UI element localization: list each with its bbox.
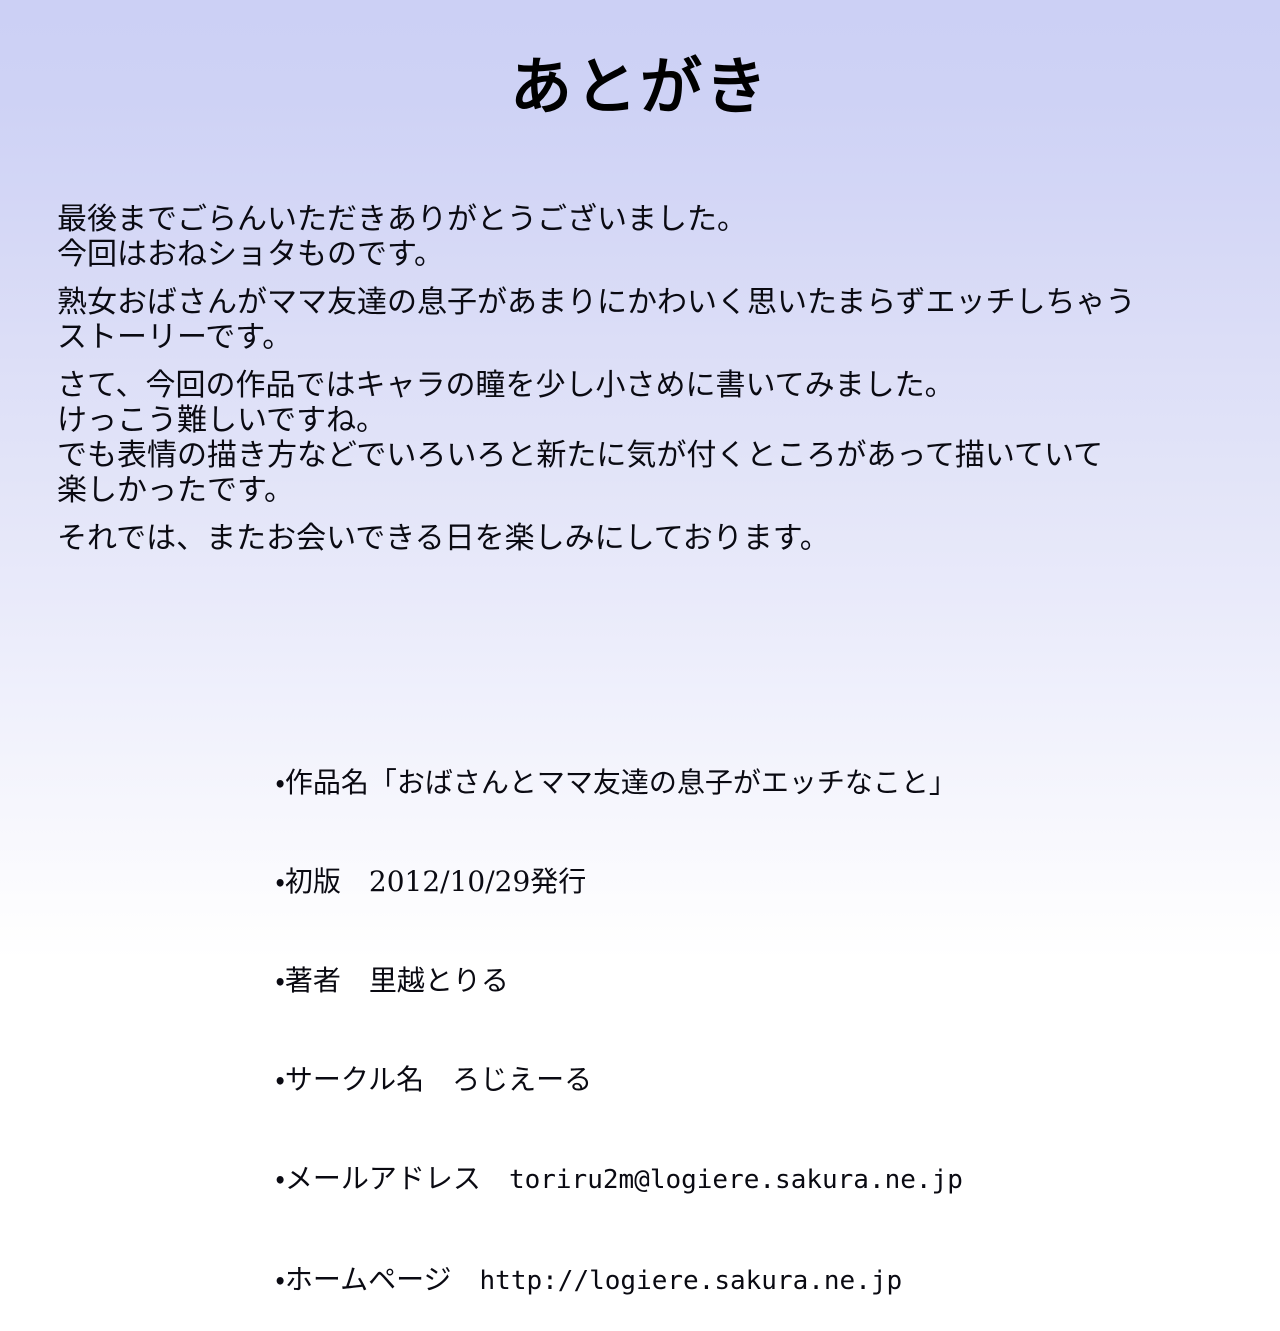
colophon-block: ・作品名「おばさんとママ友達の息子がエッチなこと」 ・初版 2012/10/29…	[222, 733, 963, 1331]
afterword-page: あとがき 最後までごらんいただきありがとうございました。 今回はおねショタもので…	[0, 0, 1280, 960]
page-title-container: あとがき	[0, 8, 1280, 164]
body-line: 楽しかったです。	[57, 473, 1187, 508]
colophon-item-work-title: ・作品名「おばさんとママ友達の息子がエッチなこと」	[222, 733, 963, 832]
page-title: あとがき	[510, 50, 770, 123]
paragraph-3: さて、今回の作品ではキャラの瞳を少し小さめに書いてみました。 けっこう難しいです…	[57, 368, 1187, 508]
colophon-item-edition: ・初版 2012/10/29発行	[222, 832, 963, 931]
colophon-item-circle: ・サークル名 ろじえーる	[222, 1030, 963, 1129]
body-line: さて、今回の作品ではキャラの瞳を少し小さめに書いてみました。	[57, 368, 1187, 403]
body-line: それでは、またお会いできる日を楽しみにしております。	[57, 521, 1187, 556]
homepage-url[interactable]: http://logiere.sakura.ne.jp	[480, 1266, 903, 1296]
body-line: けっこう難しいですね。	[57, 403, 1187, 438]
body-line: でも表情の描き方などでいろいろと新たに気が付くところがあって描いていて	[57, 438, 1187, 473]
body-line: ストーリーです。	[57, 320, 1187, 355]
colophon-label: ・作品名「おばさんとママ友達の息子がエッチなこと」	[275, 766, 957, 799]
body-line: 今回はおねショタものです。	[57, 237, 1187, 272]
colophon-label: ・著者 里越とりる	[275, 964, 509, 997]
colophon-label: ・ホームページ	[275, 1263, 479, 1296]
body-line: 熟女おばさんがママ友達の息子があまりにかわいく思いたまらずエッチしちゃう	[57, 285, 1187, 320]
colophon-item-email: ・メールアドレス toriru2m@logiere.sakura.ne.jp	[222, 1129, 963, 1230]
paragraph-2: 熟女おばさんがママ友達の息子があまりにかわいく思いたまらずエッチしちゃう ストー…	[57, 285, 1187, 355]
paragraph-1: 最後までごらんいただきありがとうございました。 今回はおねショタものです。	[57, 202, 1187, 272]
colophon-label: ・サークル名 ろじえーる	[275, 1063, 592, 1096]
colophon-item-author: ・著者 里越とりる	[222, 931, 963, 1030]
body-line: 最後までごらんいただきありがとうございました。	[57, 202, 1187, 237]
colophon-label: ・初版 2012/10/29発行	[275, 865, 586, 898]
email-address[interactable]: toriru2m@logiere.sakura.ne.jp	[509, 1165, 963, 1195]
colophon-item-homepage: ・ホームページ http://logiere.sakura.ne.jp	[222, 1230, 963, 1331]
colophon-label: ・メールアドレス	[275, 1162, 509, 1195]
paragraph-4: それでは、またお会いできる日を楽しみにしております。	[57, 521, 1187, 556]
afterword-body: 最後までごらんいただきありがとうございました。 今回はおねショタものです。 熟女…	[57, 202, 1187, 556]
